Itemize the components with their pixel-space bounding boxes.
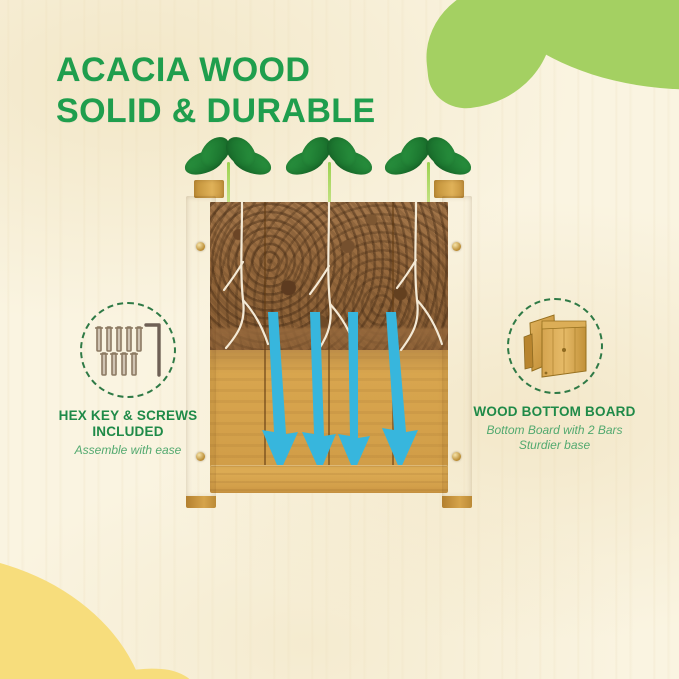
- bottom-rail: [210, 465, 448, 493]
- screw-icon: [452, 452, 461, 461]
- drainage-arrow: [338, 312, 370, 472]
- feature-subtitle: Bottom Board with 2 Bars Sturdier base: [452, 423, 657, 453]
- infographic-canvas: ACACIA WOOD SOLID & DURABLE: [0, 0, 679, 679]
- planter-front-panel: [210, 202, 448, 490]
- seedling-2: [281, 136, 377, 198]
- feature-title: HEX KEY & SCREWS INCLUDED: [28, 408, 228, 440]
- feature-subtitle: Assemble with ease: [28, 443, 228, 458]
- drainage-arrow: [262, 312, 298, 472]
- post-foot-left: [186, 496, 216, 508]
- hex-key-icon: [146, 325, 159, 375]
- post-foot-right: [442, 496, 472, 508]
- page-title: ACACIA WOOD SOLID & DURABLE: [56, 50, 486, 132]
- screw-icon: [196, 242, 205, 251]
- feature-title: WOOD BOTTOM BOARD: [452, 404, 657, 420]
- feature-wood-bottom-board: WOOD BOTTOM BOARD Bottom Board with 2 Ba…: [452, 298, 657, 453]
- screws-and-hex-key-icon: [91, 319, 165, 381]
- feature-icon-circle: [80, 302, 176, 398]
- drainage-arrow: [302, 312, 336, 472]
- drainage-arrows: [210, 312, 448, 482]
- feature-hex-key: HEX KEY & SCREWS INCLUDED Assemble with …: [28, 302, 228, 458]
- planter-illustration: [186, 196, 472, 501]
- feature-icon-circle: [507, 298, 603, 394]
- screw-icon: [452, 242, 461, 251]
- drainage-arrow: [382, 312, 418, 470]
- wood-board-icon: [516, 309, 594, 383]
- headline-line-1: ACACIA WOOD: [56, 51, 310, 89]
- headline-line-2: SOLID & DURABLE: [56, 91, 486, 132]
